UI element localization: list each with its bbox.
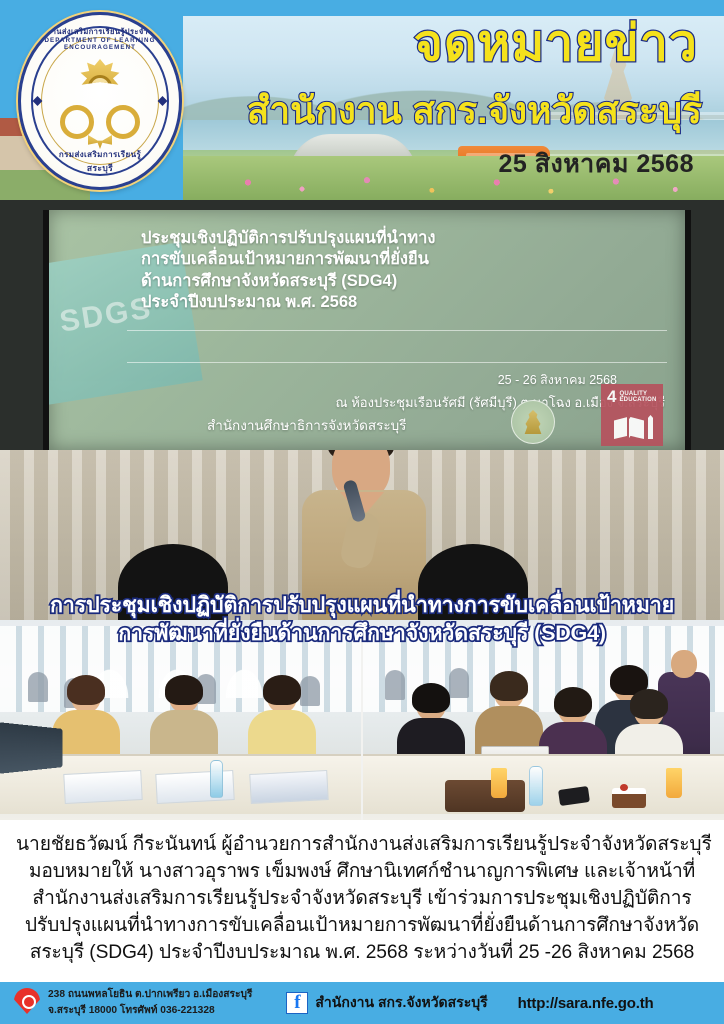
article-line-4: ปรับปรุงแผนที่นำทางการขับเคลื่อนเป้าหมาย… (16, 913, 708, 940)
provincial-education-office-seal (511, 400, 555, 444)
event-photo-grid (0, 620, 724, 820)
website-url[interactable]: http://sara.nfe.go.th (518, 995, 654, 1012)
newsletter-page: บันไดทางขึ้นพระพุทธบาท สำนักงานส่งเสริมก… (0, 0, 724, 1024)
wreath-left-icon (60, 105, 94, 139)
slide-title-block: ประชุมเชิงปฏิบัติการปรับปรุงแผนที่นำทาง … (141, 228, 581, 314)
wreath-right-icon (106, 105, 140, 139)
seal-text-province: สระบุรี (21, 161, 179, 175)
participant-hair (67, 675, 105, 705)
article-line-2: มอบหมายให้ นางสาวอุราพร เข็มพงษ์ ศึกษานิ… (16, 859, 708, 886)
department-seal-logo: สำนักงานส่งเสริมการเรียนรู้ประจำจังหวัด … (18, 12, 182, 190)
royal-crown-wreath-emblem (54, 59, 146, 151)
audience-head-left (118, 544, 228, 620)
main-event-photo: ประชุมเชิงปฏิบัติการปรับปรุงแผนที่นำทาง … (0, 200, 724, 620)
participant-hair (263, 675, 301, 705)
projected-slide: ประชุมเชิงปฏิบัติการปรับปรุงแผนที่นำทาง … (43, 210, 691, 450)
photo-participants-seated (0, 620, 361, 820)
facebook-page-label[interactable]: สำนักงาน สกร.จังหวัดสระบุรี (315, 992, 487, 1014)
page-footer: 238 ถนนพหลโยธิน ต.ปากเพรียว อ.เมืองสระบุ… (0, 980, 724, 1024)
participant-hair (554, 687, 592, 717)
open-book-icon (614, 417, 644, 439)
footer-address: 238 ถนนพหลโยธิน ต.ปากเพรียว อ.เมืองสระบุ… (48, 987, 252, 1019)
facebook-icon[interactable] (286, 992, 308, 1014)
article-line-3: สำนักงานส่งเสริมการเรียนรู้ประจำจังหวัดส… (16, 886, 708, 913)
slide-title-line-3: ด้านการศึกษาจังหวัดสระบุรี (SDG4) (141, 271, 581, 292)
water-bottle-icon (529, 766, 543, 806)
slide-divider-top (127, 330, 667, 331)
dessert-plate-icon (612, 788, 646, 808)
seal-text-english: DEPARTMENT OF LEARNING ENCOURAGEMENT (21, 37, 179, 51)
article-body: นายชัยธวัฒน์ กีระนันทน์ ผู้อำนวยการสำนัก… (0, 820, 724, 980)
documents-stack (63, 770, 142, 804)
ribbon-bow-icon (88, 135, 112, 149)
juice-glass-icon (491, 768, 507, 798)
participant-hair (630, 689, 668, 719)
speaker-figure (296, 450, 432, 620)
crown-icon (73, 59, 127, 105)
slide-title-line-2: การขับเคลื่อนเป้าหมายการพัฒนาที่ยั่งยืน (141, 249, 581, 270)
sdg4-badge: 4 QUALITY EDUCATION (601, 384, 663, 446)
water-bottle-icon (210, 760, 223, 798)
slide-divider-bottom (127, 362, 667, 363)
footer-address-line-2: จ.สระบุรี 18000 โทรศัพท์ 036-221328 (48, 1003, 252, 1019)
briefcase-icon (445, 780, 525, 812)
background-person (28, 672, 48, 702)
speaker-belt (324, 601, 404, 614)
participant-hair (165, 675, 203, 705)
newsletter-subtitle-office: สำนักงาน สกร.จังหวัดสระบุรี (247, 92, 702, 129)
laptop-icon (0, 722, 63, 774)
article-line-5: สระบุรี (SDG4) ประจำปีงบประมาณ พ.ศ. 2568… (16, 940, 708, 967)
newsletter-date: 25 สิงหาคม 2568 (498, 152, 694, 177)
newsletter-title: จดหมายข่าว (414, 18, 698, 68)
slide-title-line-1: ประชุมเชิงปฏิบัติการปรับปรุงแผนที่นำทาง (141, 228, 581, 249)
article-line-1: นายชัยธวัฒน์ กีระนันทน์ ผู้อำนวยการสำนัก… (16, 832, 708, 859)
photo-group-around-laptop (363, 620, 724, 820)
pencil-icon (648, 415, 653, 439)
page-header: บันไดทางขึ้นพระพุทธบาท สำนักงานส่งเสริมก… (0, 0, 724, 200)
slide-date-range: 25 - 26 สิงหาคม 2568 (498, 370, 617, 390)
location-pin-icon (14, 987, 40, 1019)
participant-hair (490, 671, 528, 701)
participant-hair (412, 683, 450, 713)
juice-glass-icon (666, 768, 682, 798)
footer-address-line-1: 238 ถนนพหลโยธิน ต.ปากเพรียว อ.เมืองสระบุ… (48, 987, 252, 1003)
slide-organizer-label: สำนักงานศึกษาธิการจังหวัดสระบุรี (207, 414, 406, 436)
seal-text-thai-bottom: กรมส่งเสริมการเรียนรู้ (21, 148, 179, 161)
audience-head-right (418, 544, 528, 620)
speaker-scene (0, 450, 724, 620)
slide-title-line-4: ประจำปีงบประมาณ พ.ศ. 2568 (141, 292, 581, 313)
sdg-number: 4 (607, 389, 616, 405)
documents-stack (249, 770, 328, 804)
